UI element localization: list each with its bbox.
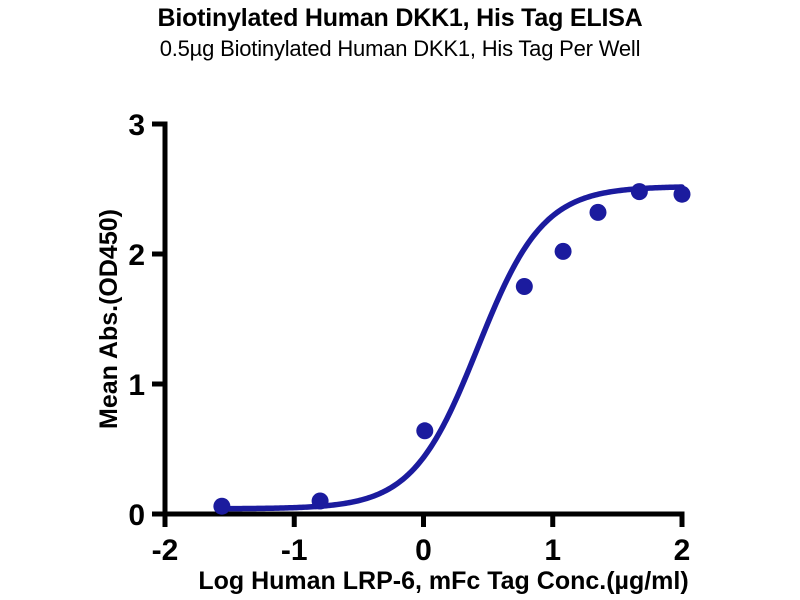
data-points-layer xyxy=(213,183,690,515)
y-axis-tick-label: 0 xyxy=(128,499,145,532)
data-point xyxy=(416,422,433,439)
data-point xyxy=(631,183,648,200)
axis-labels-layer: 0123-2-1012Log Human LRP-6, mFc Tag Conc… xyxy=(95,109,690,595)
plot-area: 0123-2-1012Log Human LRP-6, mFc Tag Conc… xyxy=(0,0,800,600)
x-axis-tick-label: 1 xyxy=(544,534,561,567)
y-axis-tick-label: 1 xyxy=(128,369,145,402)
data-point xyxy=(516,278,533,295)
y-axis-tick-label: 3 xyxy=(128,109,145,142)
data-point xyxy=(312,493,329,510)
x-axis-tick-label: -2 xyxy=(152,534,179,567)
fit-curve xyxy=(222,187,682,509)
x-axis-tick-label: 2 xyxy=(674,534,691,567)
data-point xyxy=(589,204,606,221)
x-axis-tick-label: -1 xyxy=(281,534,308,567)
data-point xyxy=(674,186,691,203)
chart-figure: Biotinylated Human DKK1, His Tag ELISA 0… xyxy=(0,0,800,600)
y-axis-tick-label: 2 xyxy=(128,239,145,272)
y-axis-title: Mean Abs.(OD450) xyxy=(95,209,123,429)
data-point xyxy=(213,498,230,515)
data-point xyxy=(555,243,572,260)
x-axis-tick-label: 0 xyxy=(415,534,432,567)
fit-curve-layer xyxy=(222,187,682,509)
x-axis-title: Log Human LRP-6, mFc Tag Conc.(µg/ml) xyxy=(198,567,688,595)
